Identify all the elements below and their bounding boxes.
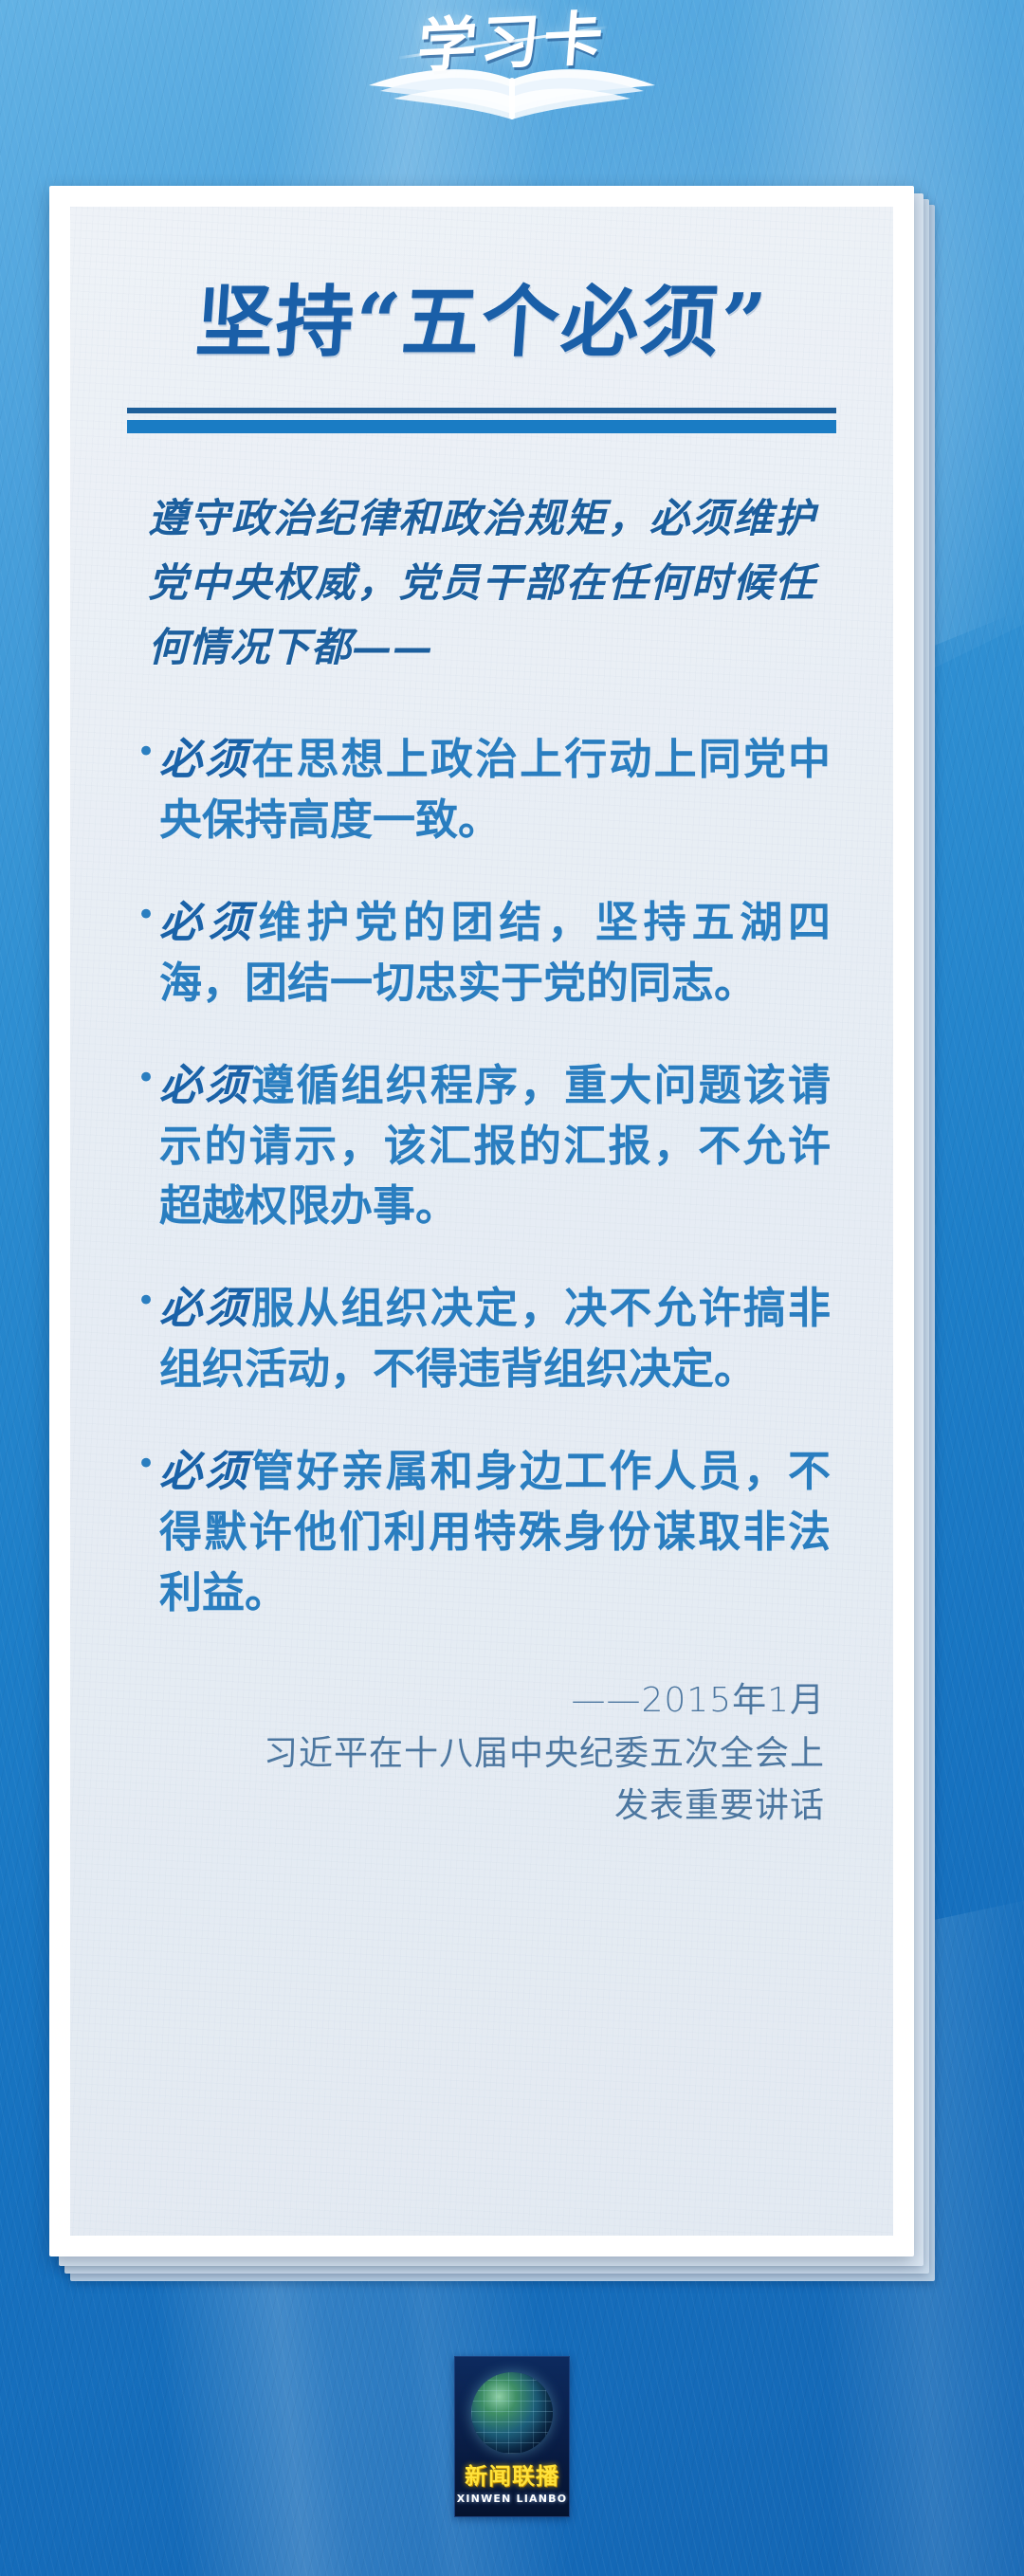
divider-line-thin <box>127 408 836 413</box>
header-logo: 学习卡 <box>0 13 1024 165</box>
attribution-line-2: 习近平在十八届中央纪委五次全会上 <box>138 1727 825 1781</box>
footer-logo-en: XINWEN LIANBO <box>457 2493 568 2505</box>
divider-line-thick <box>127 420 836 433</box>
attribution-line-1: ——2015年1月 <box>138 1674 825 1727</box>
attribution-line-3: 发表重要讲话 <box>138 1780 825 1833</box>
bullet-body: 管好亲属和身边工作人员，不得默许他们利用特殊身份谋取非法利益。 <box>159 1446 831 1617</box>
bullet-text: 必须服从组织决定，决不允许搞非组织活动，不得违背组织决定。 <box>159 1278 831 1399</box>
footer-logo: 新闻联播 XINWEN LIANBO <box>454 2356 570 2517</box>
bullet-text: 必须管好亲属和身边工作人员，不得默许他们利用特殊身份谋取非法利益。 <box>159 1441 831 1623</box>
card-stack: 坚持“五个必须” 遵守政治纪律和政治规矩，必须维护党中央权威，党员干部在任何时候… <box>49 186 950 2272</box>
footer-logo-cn: 新闻联播 <box>465 2465 559 2488</box>
attribution: ——2015年1月 习近平在十八届中央纪委五次全会上 发表重要讲话 <box>138 1674 825 1833</box>
bullet-text: 必须遵循组织程序，重大问题该请示的请示，该汇报的汇报，不允许超越权限办事。 <box>159 1055 831 1237</box>
title-divider <box>127 408 836 433</box>
bullet-keyword: 必须 <box>159 1283 251 1333</box>
bullet-body: 在思想上政治上行动上同党中央保持高度一致。 <box>159 734 831 845</box>
intro-paragraph: 遵守政治纪律和政治规矩，必须维护党中央权威，党员干部在任何时候任何情况下都—— <box>148 486 815 680</box>
bullet-body: 遵循组织程序，重大问题该请示的请示，该汇报的汇报，不允许超越权限办事。 <box>159 1060 831 1232</box>
bullet-list: • 必须在思想上政治上行动上同党中央保持高度一致。 • 必须维护党的团结，坚持五… <box>133 729 831 1623</box>
poster-root: 学习卡 坚持“五个必须” 遵守政治纪律和政治规矩，必须维护党中 <box>0 0 1024 2576</box>
open-book-icon <box>356 66 668 125</box>
bullet-body: 维护党的团结，坚持五湖四海，团结一切忠实于党的同志。 <box>159 897 831 1008</box>
page-title: 坚持“五个必须” <box>120 275 844 370</box>
list-item: • 必须服从组织决定，决不允许搞非组织活动，不得违背组织决定。 <box>133 1278 831 1399</box>
bullet-keyword: 必须 <box>159 1060 251 1110</box>
list-item: • 必须维护党的团结，坚持五湖四海，团结一切忠实于党的同志。 <box>133 892 831 1014</box>
bullet-body: 服从组织决定，决不允许搞非组织活动，不得违背组织决定。 <box>159 1283 831 1394</box>
bullet-keyword: 必须 <box>159 897 259 947</box>
globe-icon <box>471 2372 553 2454</box>
card-sheet: 坚持“五个必须” 遵守政治纪律和政治规矩，必须维护党中央权威，党员干部在任何时候… <box>70 207 893 2236</box>
list-item: • 必须管好亲属和身边工作人员，不得默许他们利用特殊身份谋取非法利益。 <box>133 1441 831 1623</box>
list-item: • 必须遵循组织程序，重大问题该请示的请示，该汇报的汇报，不允许超越权限办事。 <box>133 1055 831 1237</box>
bullet-keyword: 必须 <box>159 734 251 784</box>
card-front: 坚持“五个必须” 遵守政治纪律和政治规矩，必须维护党中央权威，党员干部在任何时候… <box>49 186 914 2256</box>
bullet-keyword: 必须 <box>159 1446 251 1496</box>
bullet-text: 必须在思想上政治上行动上同党中央保持高度一致。 <box>159 729 831 850</box>
list-item: • 必须在思想上政治上行动上同党中央保持高度一致。 <box>133 729 831 850</box>
bullet-text: 必须维护党的团结，坚持五湖四海，团结一切忠实于党的同志。 <box>159 892 831 1014</box>
